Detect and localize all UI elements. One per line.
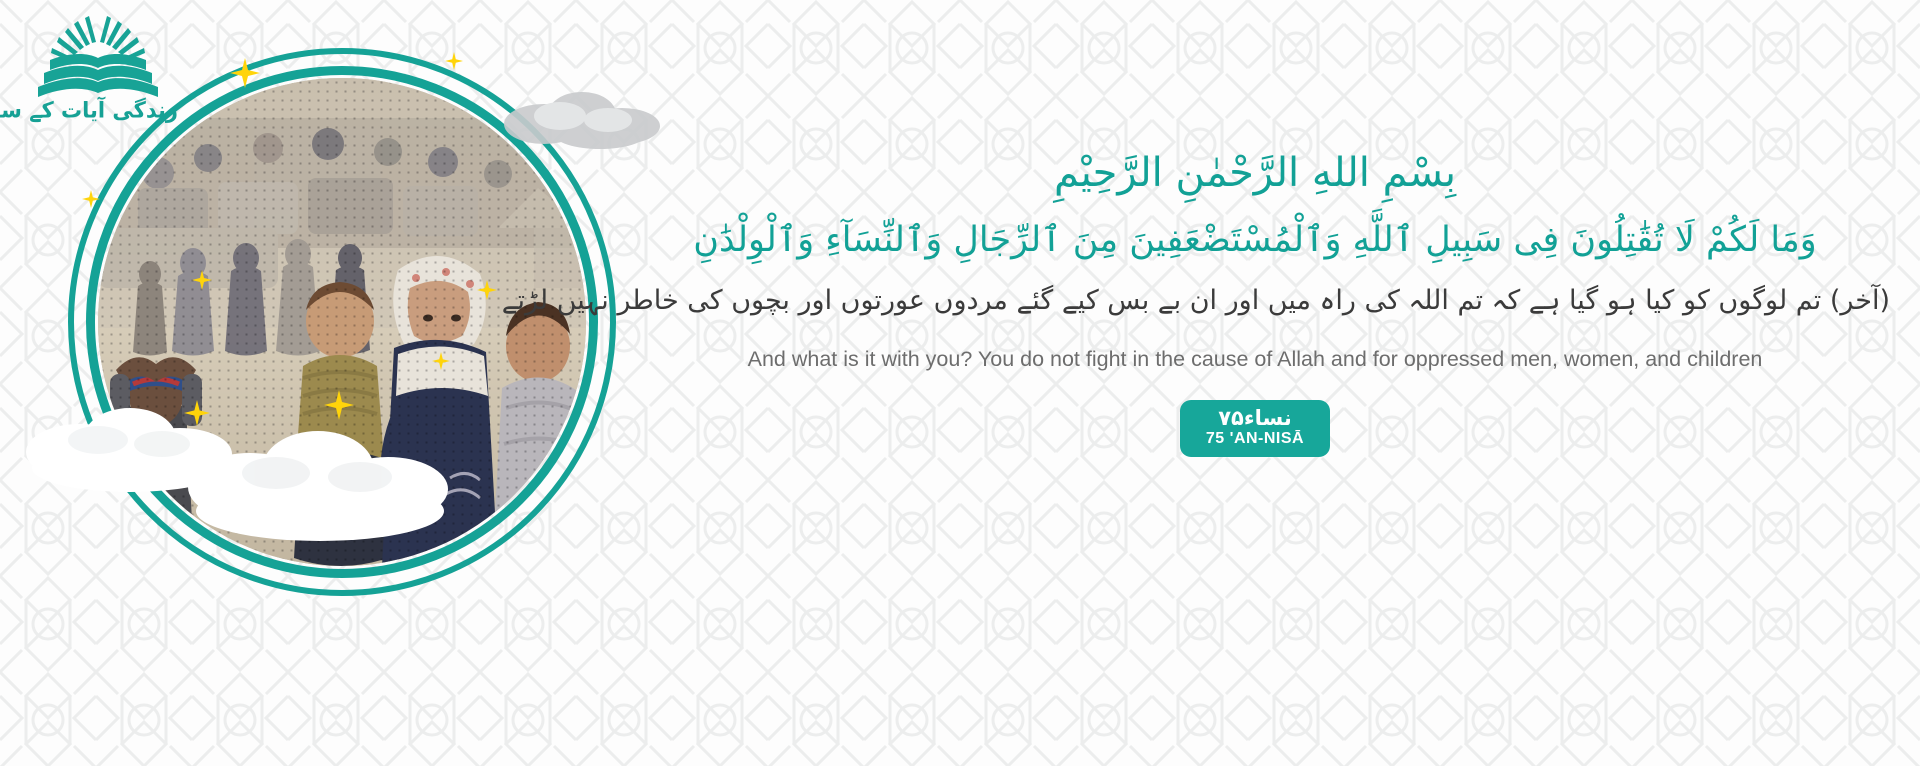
logo-tagline: زندگی آیات کے ساتھ [18,99,178,121]
halftone-overlay [98,78,586,566]
badge-latin-label: 75 'AN-NISĀ [1206,430,1304,448]
verse-content: بِسْمِ اللهِ الرَّحْمٰنِ الرَّحِيْمِ وَم… [620,150,1890,457]
brand-logo[interactable]: زندگی آیات کے ساتھ [18,12,178,140]
verse-english-translation: And what is it with you? You do not figh… [620,344,1890,374]
badge-arabic-label: نساء۷۵ [1206,407,1304,429]
verse-arabic-text: وَمَا لَكُمْ لَا تُقَٰتِلُونَ فِى سَبِيل… [620,214,1890,267]
photo-image [98,78,586,566]
bismillah-text: بِسْمِ اللهِ الرَّحْمٰنِ الرَّحِيْمِ [620,150,1890,196]
open-book-icon [28,12,168,98]
verse-urdu-translation: (آخر) تم لوگوں کو کیا ہو گیا ہے کہ تم ال… [620,279,1890,322]
surah-reference-badge[interactable]: نساء۷۵ 75 'AN-NISĀ [1180,400,1330,457]
sparkle-star-icon [445,52,463,70]
quran-verse-banner: زندگی آیات کے ساتھ [0,0,1920,766]
